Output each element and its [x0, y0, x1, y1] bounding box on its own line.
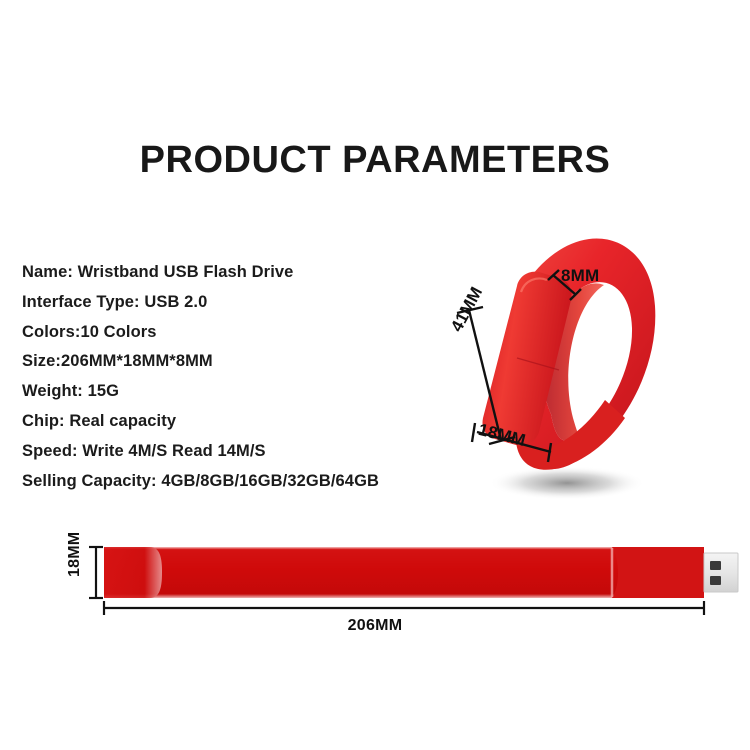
flat-band-diagram: 18MM 206MM	[0, 520, 750, 640]
product-parameters-page: PRODUCT PARAMETERS Name: Wristband USB F…	[0, 0, 750, 750]
specification-list: Name: Wristband USB Flash Drive Interfac…	[22, 258, 442, 496]
spec-name: Name: Wristband USB Flash Drive	[22, 258, 442, 288]
spec-size: Size:206MM*18MM*8MM	[22, 347, 442, 377]
dimension-label-8mm: 8MM	[561, 266, 599, 286]
dimension-label-206mm: 206MM	[0, 617, 750, 635]
spec-weight: Weight: 15G	[22, 377, 442, 407]
spec-speed: Speed: Write 4M/S Read 14M/S	[22, 437, 442, 467]
product-photo-wristband: 8MM 41MM 18MM	[455, 218, 670, 513]
photo-shadow	[489, 466, 645, 500]
wristband-3d-illustration	[455, 218, 670, 513]
dimension-label-18mm-flat: 18MM	[66, 532, 84, 577]
usb-plug-icon	[704, 553, 738, 592]
spec-colors: Colors:10 Colors	[22, 318, 442, 348]
spec-selling-capacity: Selling Capacity: 4GB/8GB/16GB/32GB/64GB	[22, 467, 442, 497]
spec-chip: Chip: Real capacity	[22, 407, 442, 437]
flat-band-body	[104, 547, 704, 598]
page-title: PRODUCT PARAMETERS	[0, 140, 750, 180]
flat-band-usb-housing	[612, 547, 704, 598]
dimension-marker-206mm	[104, 601, 704, 615]
spec-interface-type: Interface Type: USB 2.0	[22, 288, 442, 318]
flat-band-left-tip	[104, 547, 162, 598]
dimension-marker-18mm-flat	[89, 547, 103, 598]
